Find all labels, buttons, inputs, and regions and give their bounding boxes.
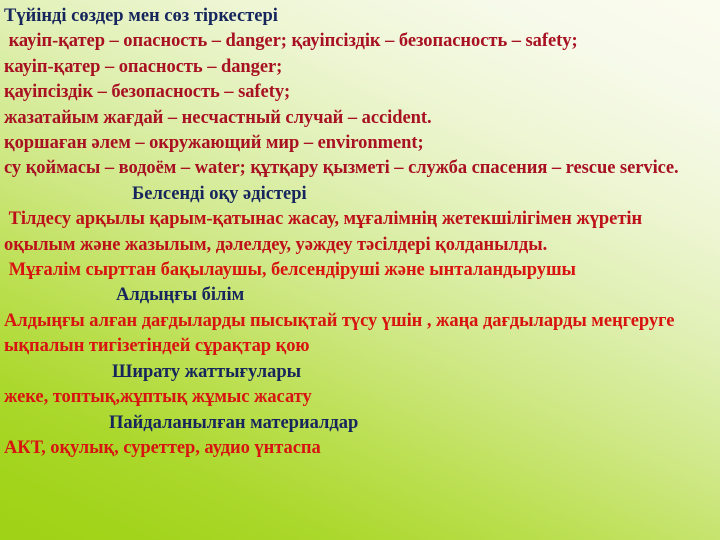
prior-knowledge-body: Алдыңғы алған дағдыларды пысықтай түсу ү… — [4, 309, 718, 360]
warmup-exercises-body: жеке, топтық,жұптық жұмыс жасату — [4, 385, 718, 410]
materials-used-body: АКТ, оқулық, суреттер, аудио үнтаспа — [4, 436, 718, 461]
warmup-exercises-heading: Ширату жаттығулары — [4, 360, 718, 385]
presentation-slide: Түйінді сөздер мен сөз тіркестері кауіп-… — [0, 0, 720, 540]
prior-knowledge-heading: Алдыңғы білім — [4, 283, 718, 308]
keyword-line-5: қоршаған әлем – окружающий мир – environ… — [4, 131, 718, 156]
teacher-role-line: Мұғалім сырттан бақылаушы, белсендіруші … — [4, 258, 718, 283]
keyword-line-3: қауіпсіздік – безопасность – safety; — [4, 80, 718, 105]
keywords-section-heading: Түйінді сөздер мен сөз тіркестері — [4, 4, 718, 29]
keyword-line-1: кауіп-қатер – опасность – danger; қауіпс… — [4, 29, 718, 54]
active-learning-methods-heading: Белсенді оқу әдістері — [4, 182, 718, 207]
active-learning-methods-body: Тілдесу арқылы қарым-қатынас жасау, мұға… — [4, 207, 718, 258]
keyword-line-4: жазатайым жағдай – несчастный случай – a… — [4, 106, 718, 131]
keyword-line-6: су қоймасы – водоём – water; құтқару қыз… — [4, 156, 718, 181]
slide-content: Түйінді сөздер мен сөз тіркестері кауіп-… — [0, 0, 720, 461]
materials-used-heading: Пайдаланылған материалдар — [4, 411, 718, 436]
keyword-line-2: кауіп-қатер – опасность – danger; — [4, 55, 718, 80]
